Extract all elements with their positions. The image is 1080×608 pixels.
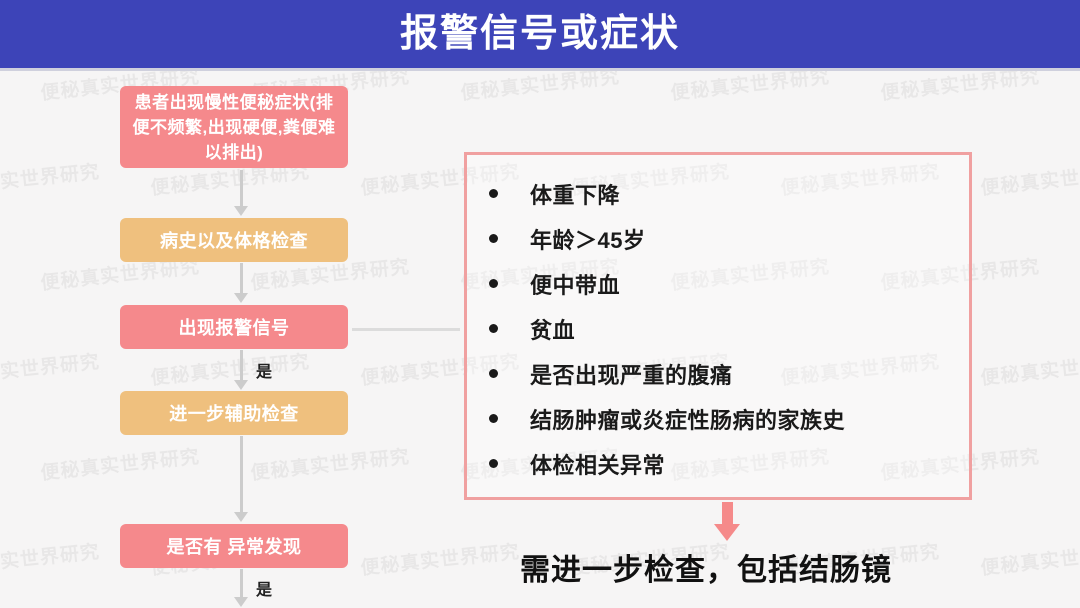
slide-root: 便秘真实世界研究便秘真实世界研究便秘真实世界研究便秘真实世界研究便秘真实世界研究…: [0, 0, 1080, 608]
bullet-icon: [489, 324, 498, 333]
alarm-signal-list: 体重下降年龄＞45岁便中带血贫血是否出现严重的腹痛结肠肿瘤或炎症性肠病的家族史体…: [467, 171, 969, 486]
alarm-signal-item: 便中带血: [467, 261, 969, 306]
connector-stem: [240, 436, 243, 512]
alarm-signal-item: 贫血: [467, 306, 969, 351]
connector-arrowhead: [234, 380, 248, 390]
flow-connector-arrow-4: [234, 436, 248, 522]
connector-stem: [240, 263, 243, 293]
connector-arrowhead: [234, 293, 248, 303]
arrow-head: [714, 524, 740, 541]
alarm-signal-item-label: 体重下降: [530, 178, 620, 210]
alarm-signal-item-label: 便中带血: [530, 268, 620, 300]
bullet-icon: [489, 234, 498, 243]
flow-connector-arrow-2: [234, 263, 248, 303]
alarm-signal-item-label: 体检相关异常: [530, 448, 665, 480]
flow-box-history: 病史以及体格检查: [120, 218, 348, 262]
alarm-signal-item-label: 是否出现严重的腹痛: [530, 358, 733, 390]
alarm-signal-item-label: 贫血: [530, 313, 575, 345]
alarm-signal-item: 是否出现严重的腹痛: [467, 351, 969, 396]
bullet-icon: [489, 189, 498, 198]
alarm-signal-panel: 体重下降年龄＞45岁便中带血贫血是否出现严重的腹痛结肠肿瘤或炎症性肠病的家族史体…: [464, 152, 972, 500]
watermark-text: 便秘真实世界研究: [979, 347, 1080, 391]
conclusion-arrow-icon: [714, 502, 740, 541]
flow-connector-arrow-1: [234, 170, 248, 216]
flow-box-symptoms: 患者出现慢性便秘症状(排便不频繁,出现硬便,粪便难以排出): [120, 86, 348, 168]
header-divider: [0, 68, 1080, 71]
watermark-text: 便秘真实世界研究: [149, 347, 311, 391]
alarm-signal-item: 体检相关异常: [467, 441, 969, 486]
watermark-text: 便秘真实世界研究: [0, 157, 101, 201]
alarm-signal-item: 年龄＞45岁: [467, 216, 969, 261]
alarm-signal-item: 体重下降: [467, 171, 969, 216]
edge-label-alarm-yes: 是: [256, 358, 272, 382]
watermark-text: 便秘真实世界研究: [0, 537, 101, 581]
flow-connector-arrow-5: [234, 569, 248, 607]
flow-connector-horizontal: [352, 328, 460, 331]
alarm-signal-item-label: 结肠肿瘤或炎症性肠病的家族史: [530, 403, 845, 435]
bullet-icon: [489, 369, 498, 378]
watermark-text: 便秘真实世界研究: [979, 537, 1080, 581]
arrow-stem: [722, 502, 733, 524]
connector-stem: [240, 350, 243, 380]
conclusion-text: 需进一步检查，包括结肠镜: [520, 545, 892, 589]
connector-stem: [240, 569, 243, 597]
flow-box-further-exam: 进一步辅助检查: [120, 391, 348, 435]
alarm-signal-item: 结肠肿瘤或炎症性肠病的家族史: [467, 396, 969, 441]
watermark-text: 便秘真实世界研究: [359, 537, 521, 581]
watermark-text: 便秘真实世界研究: [39, 442, 201, 486]
flow-box-abnormal-findings: 是否有 异常发现: [120, 524, 348, 568]
flow-connector-arrow-3: [234, 350, 248, 390]
bullet-icon: [489, 414, 498, 423]
watermark-text: 便秘真实世界研究: [979, 157, 1080, 201]
watermark-text: 便秘真实世界研究: [0, 347, 101, 391]
alarm-signal-item-label: 年龄＞45岁: [530, 223, 645, 255]
edge-label-abnormal-yes: 是: [256, 576, 272, 600]
page-title: 报警信号或症状: [400, 15, 680, 53]
watermark-text: 便秘真实世界研究: [249, 442, 411, 486]
header-banner: 报警信号或症状: [0, 0, 1080, 68]
connector-arrowhead: [234, 512, 248, 522]
connector-stem: [240, 170, 243, 206]
bullet-icon: [489, 279, 498, 288]
flow-box-alarm-signal: 出现报警信号: [120, 305, 348, 349]
bullet-icon: [489, 459, 498, 468]
connector-arrowhead: [234, 597, 248, 607]
connector-arrowhead: [234, 206, 248, 216]
